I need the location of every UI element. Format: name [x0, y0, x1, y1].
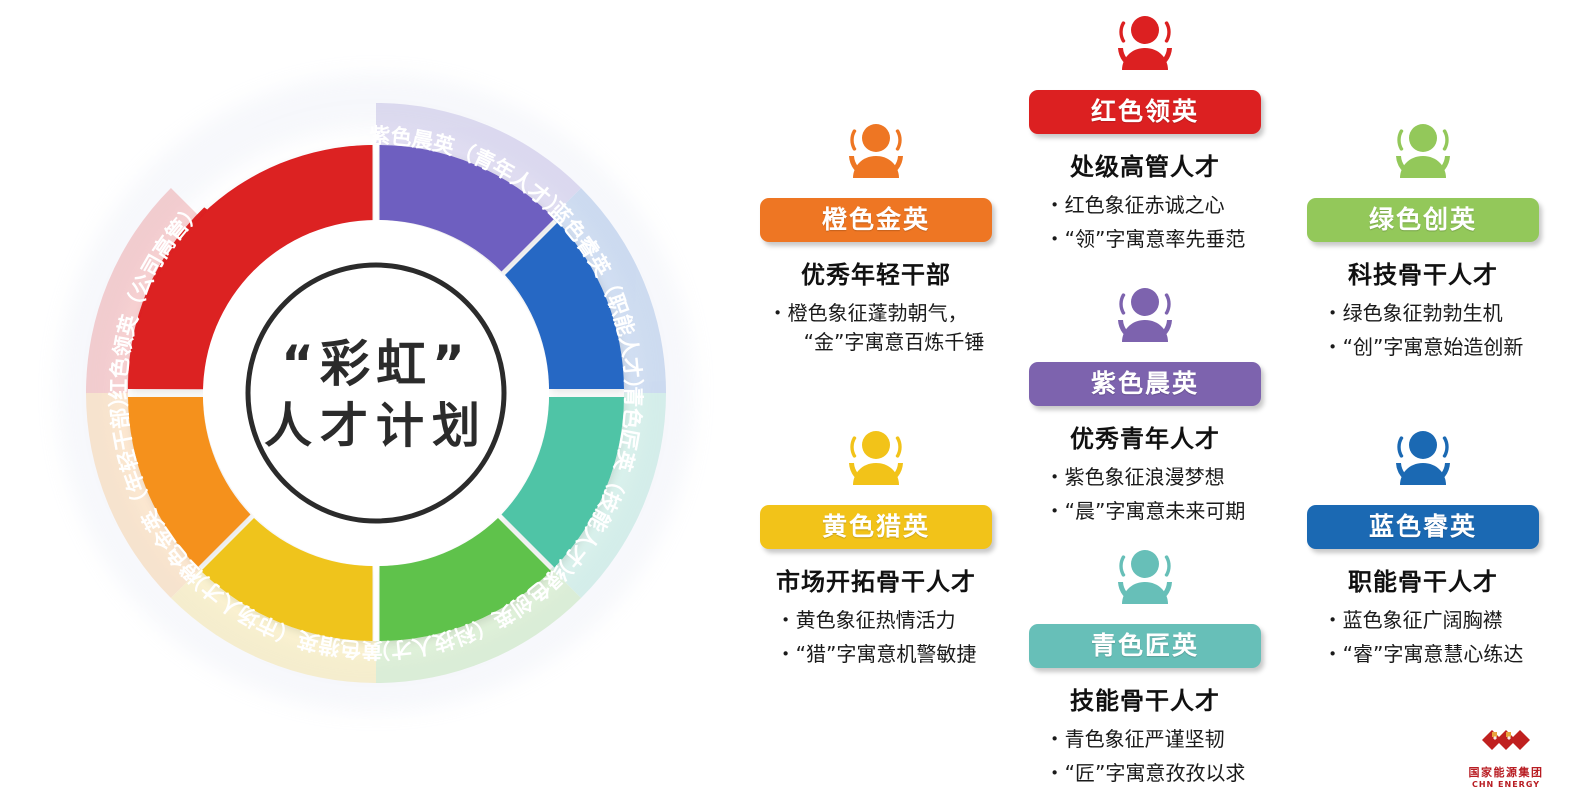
talent-card-purple[interactable]: 紫色晨英 优秀青年人才 ・紫色象征浪漫梦想 ・“晨”字寓意未来可期 [1009, 272, 1281, 531]
bullet-item: ・绿色象征勃勃生机 [1323, 299, 1524, 328]
person-icon [1009, 272, 1281, 358]
card-title: 优秀年轻干部 [740, 255, 1012, 290]
person-icon [740, 108, 1012, 194]
talent-card-red[interactable]: 红色领英 处级高管人才 ・红色象征赤诚之心 ・“领”字寓意率先垂范 [1009, 0, 1281, 259]
bullet-item: ・蓝色象征广阔胸襟 [1323, 606, 1524, 635]
bullet-item: ・“创”字寓意始造创新 [1323, 333, 1524, 362]
card-title: 优秀青年人才 [1009, 419, 1281, 454]
card-bullets: ・黄色象征热情活力 ・“猎”字寓意机警敏捷 [776, 606, 977, 674]
bullet-item: ・“睿”字寓意慧心练达 [1323, 640, 1524, 669]
talent-card-orange[interactable]: 橙色金英 优秀年轻干部 ・橙色象征蓬勃朝气， “金”字寓意百炼千锤 [740, 108, 1012, 362]
card-bullets: ・绿色象征勃勃生机 ・“创”字寓意始造创新 [1323, 299, 1524, 367]
person-icon [740, 415, 1012, 501]
talent-card-blue[interactable]: 蓝色睿英 职能骨干人才 ・蓝色象征广阔胸襟 ・“睿”字寓意慧心练达 [1287, 415, 1559, 674]
card-bullets: ・橙色象征蓬勃朝气， “金”字寓意百炼千锤 [768, 299, 985, 362]
card-title: 处级高管人才 [1009, 147, 1281, 182]
donut-chart: 红色领英（公司高管） 紫色晨英（青年人才） 蓝色睿英（职能人才） 青色匠英（技能… [0, 0, 740, 799]
bullet-item: ・黄色象征热情活力 [776, 606, 977, 635]
bullet-item: ・“匠”字寓意孜孜以求 [1045, 759, 1246, 788]
talent-card-green[interactable]: 绿色创英 科技骨干人才 ・绿色象征勃勃生机 ・“创”字寓意始造创新 [1287, 108, 1559, 367]
person-icon [1287, 415, 1559, 501]
card-title: 职能骨干人才 [1287, 562, 1559, 597]
bullet-item: ・红色象征赤诚之心 [1045, 191, 1246, 220]
company-logo: 国家能源集团 CHN ENERGY [1454, 724, 1558, 789]
card-bullets: ・紫色象征浪漫梦想 ・“晨”字寓意未来可期 [1045, 463, 1246, 531]
person-icon [1287, 108, 1559, 194]
badge-label: 青色匠英 [1029, 624, 1261, 668]
badge-label: 红色领英 [1029, 90, 1261, 134]
badge-label: 绿色创英 [1307, 198, 1539, 242]
bullet-item: ・橙色象征蓬勃朝气， “金”字寓意百炼千锤 [768, 299, 985, 357]
talent-card-teal[interactable]: 青色匠英 技能骨干人才 ・青色象征严谨坚韧 ・“匠”字寓意孜孜以求 [1009, 534, 1281, 793]
card-title: 技能骨干人才 [1009, 681, 1281, 716]
bullet-item: ・“晨”字寓意未来可期 [1045, 497, 1246, 526]
logo-name-cn: 国家能源集团 [1454, 764, 1558, 780]
talent-card-yellow[interactable]: 黄色猎英 市场开拓骨干人才 ・黄色象征热情活力 ・“猎”字寓意机警敏捷 [740, 415, 1012, 674]
chn-energy-mark-icon [1476, 724, 1536, 758]
card-title: 科技骨干人才 [1287, 255, 1559, 290]
rainbow-wheel-panel: 红色领英（公司高管） 紫色晨英（青年人才） 蓝色睿英（职能人才） 青色匠英（技能… [0, 0, 740, 799]
card-bullets: ・青色象征严谨坚韧 ・“匠”字寓意孜孜以求 [1045, 725, 1246, 793]
bullet-item: ・紫色象征浪漫梦想 [1045, 463, 1246, 492]
card-bullets: ・蓝色象征广阔胸襟 ・“睿”字寓意慧心练达 [1323, 606, 1524, 674]
logo-name-en: CHN ENERGY [1454, 780, 1558, 789]
person-icon [1009, 0, 1281, 86]
bullet-item: ・“猎”字寓意机警敏捷 [776, 640, 977, 669]
bullet-item: ・“领”字寓意率先垂范 [1045, 225, 1246, 254]
person-icon [1009, 534, 1281, 620]
inner-ring-outline [248, 265, 504, 521]
card-title: 市场开拓骨干人才 [740, 562, 1012, 597]
badge-label: 蓝色睿英 [1307, 505, 1539, 549]
card-bullets: ・红色象征赤诚之心 ・“领”字寓意率先垂范 [1045, 191, 1246, 259]
badge-label: 黄色猎英 [760, 505, 992, 549]
talent-cards-panel: 橙色金英 优秀年轻干部 ・橙色象征蓬勃朝气， “金”字寓意百炼千锤 红色领英 处… [740, 0, 1572, 799]
badge-label: 紫色晨英 [1029, 362, 1261, 406]
bullet-item: ・青色象征严谨坚韧 [1045, 725, 1246, 754]
badge-label: 橙色金英 [760, 198, 992, 242]
